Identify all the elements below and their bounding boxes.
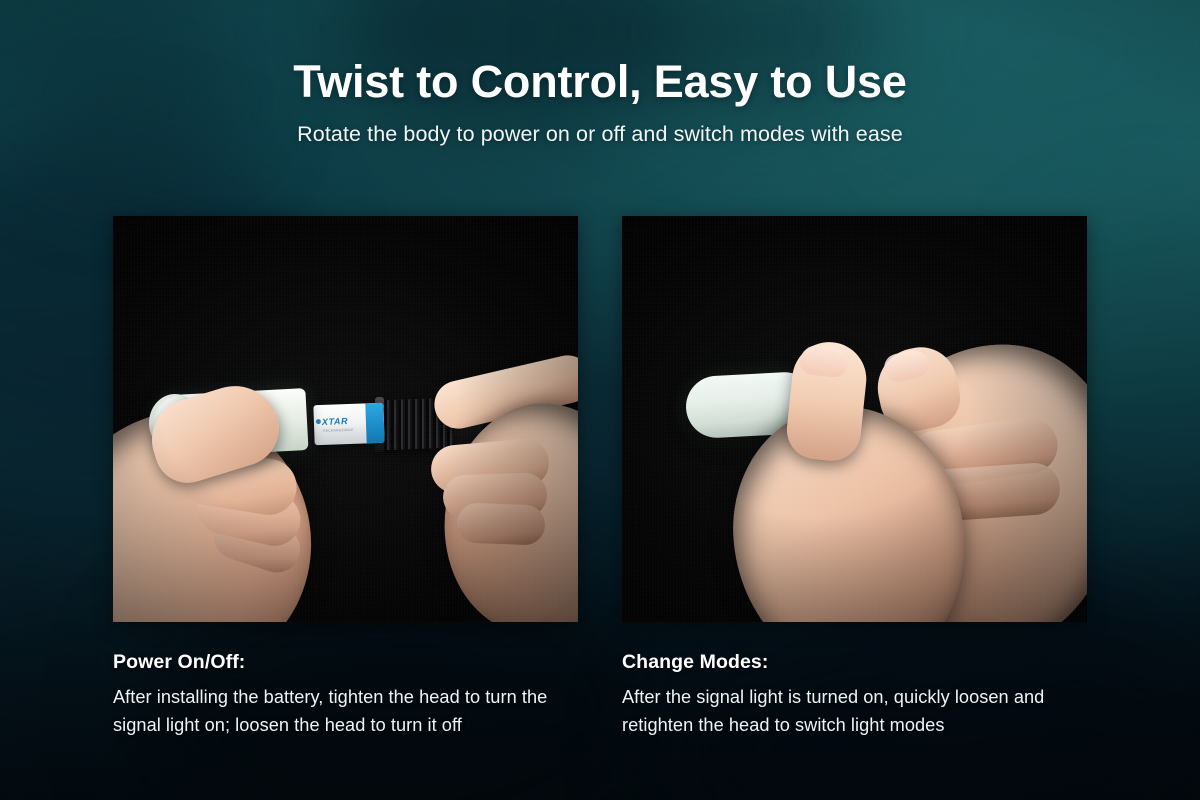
caption-title: Power On/Off: [113,651,593,674]
caption-change-modes: Change Modes: After the signal light is … [622,622,1102,740]
caption-body: After installing the battery, tighten th… [113,683,579,740]
page-title: Twist to Control, Easy to Use [0,58,1200,105]
photo-grain [622,216,1087,622]
photo-power-on-off: XTAR RECHARGEABLE [113,216,578,622]
photo-change-modes [622,216,1087,622]
caption-title: Change Modes: [622,651,1102,674]
caption-body: After the signal light is turned on, qui… [622,683,1088,740]
page-subtitle: Rotate the body to power on or off and s… [0,122,1200,147]
caption-power-on-off: Power On/Off: After installing the batte… [113,622,593,740]
header: Twist to Control, Easy to Use Rotate the… [0,58,1200,147]
photo-grain [113,216,578,622]
panel-change-modes: Change Modes: After the signal light is … [622,216,1087,740]
panels-container: XTAR RECHARGEABLE Power On/Off: After in… [113,216,1087,740]
panel-power-on-off: XTAR RECHARGEABLE Power On/Off: After in… [113,216,578,740]
